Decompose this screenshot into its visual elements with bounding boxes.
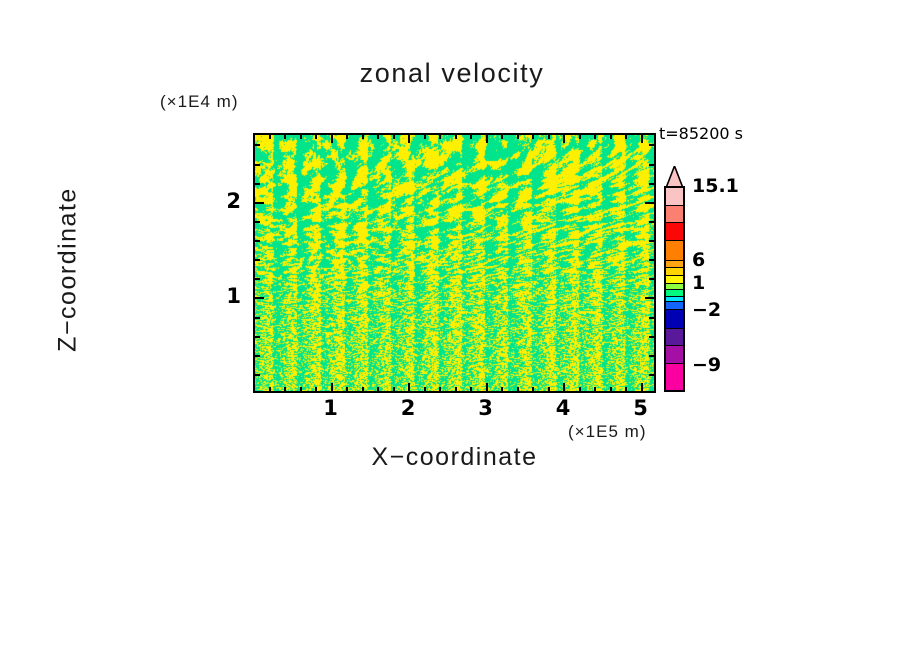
x-tick-label: 5 — [626, 396, 656, 420]
x-minor-tick — [501, 387, 503, 393]
x-major-tick-top — [331, 133, 333, 143]
x-major-tick-top — [563, 133, 565, 143]
x-tick-label: 2 — [393, 396, 423, 420]
y-tick-label: 2 — [215, 189, 241, 213]
y-minor-tick — [253, 374, 260, 376]
x-minor-tick — [269, 387, 271, 393]
colorbar[interactable] — [664, 186, 685, 392]
y-minor-tick — [253, 259, 260, 261]
colorbar-tick-label: 15.1 — [692, 175, 739, 197]
x-major-tick — [641, 383, 643, 393]
colorbar-tick-label: −9 — [692, 354, 721, 376]
x-minor-tick — [346, 387, 348, 393]
y-minor-tick — [253, 336, 260, 338]
colorbar-band — [666, 268, 683, 276]
y-tick-label: 1 — [215, 284, 241, 308]
y-minor-tick-right — [649, 144, 656, 146]
y-minor-tick-right — [649, 221, 656, 223]
x-minor-tick-top — [470, 133, 472, 139]
colorbar-band — [666, 223, 683, 241]
x-major-tick-top — [408, 133, 410, 143]
x-minor-tick-top — [548, 133, 550, 139]
x-minor-tick — [455, 387, 457, 393]
x-tick-label: 1 — [316, 396, 346, 420]
y-minor-tick-right — [649, 183, 656, 185]
x-minor-tick-top — [439, 133, 441, 139]
x-minor-tick — [517, 387, 519, 393]
x-minor-tick-top — [517, 133, 519, 139]
x-minor-tick-top — [393, 133, 395, 139]
x-minor-tick-top — [424, 133, 426, 139]
velocity-field-heatmap — [255, 135, 654, 391]
page-title: zonal velocity — [0, 58, 904, 89]
x-minor-tick-top — [315, 133, 317, 139]
y-axis-unit-label: (×1E4 m) — [160, 92, 239, 112]
colorbar-band — [666, 329, 683, 346]
colorbar-arrow-tip — [664, 166, 685, 188]
x-tick-label: 4 — [548, 396, 578, 420]
x-minor-tick — [362, 387, 364, 393]
x-major-tick — [486, 383, 488, 393]
colorbar-band — [666, 364, 683, 390]
x-minor-tick-top — [610, 133, 612, 139]
x-minor-tick-top — [377, 133, 379, 139]
x-minor-tick-top — [269, 133, 271, 139]
colorbar-tick-label: 6 — [692, 249, 705, 271]
x-minor-tick-top — [579, 133, 581, 139]
x-minor-tick — [424, 387, 426, 393]
x-tick-label: 3 — [471, 396, 501, 420]
colorbar-band — [666, 310, 683, 330]
y-minor-tick — [253, 183, 260, 185]
x-minor-tick-top — [455, 133, 457, 139]
x-minor-tick-top — [346, 133, 348, 139]
x-minor-tick-top — [532, 133, 534, 139]
y-minor-tick-right — [649, 374, 656, 376]
x-minor-tick — [393, 387, 395, 393]
colorbar-tick-label: 1 — [692, 272, 705, 294]
y-major-tick — [253, 297, 264, 299]
x-axis-unit-label: (×1E5 m) — [568, 422, 647, 442]
y-minor-tick — [253, 278, 260, 280]
y-minor-tick — [253, 221, 260, 223]
x-minor-tick — [284, 387, 286, 393]
x-major-tick-top — [641, 133, 643, 143]
x-major-tick — [408, 383, 410, 393]
x-minor-tick — [532, 387, 534, 393]
colorbar-band — [666, 276, 683, 284]
y-minor-tick — [253, 144, 260, 146]
x-minor-tick — [439, 387, 441, 393]
x-minor-tick-top — [300, 133, 302, 139]
colorbar-band — [666, 261, 683, 269]
x-minor-tick — [300, 387, 302, 393]
x-axis-title: X−coordinate — [253, 443, 656, 472]
x-major-tick — [563, 383, 565, 393]
y-minor-tick-right — [649, 336, 656, 338]
colorbar-band — [666, 241, 683, 261]
y-minor-tick — [253, 355, 260, 357]
y-minor-tick-right — [649, 317, 656, 319]
x-minor-tick — [625, 387, 627, 393]
y-major-tick-right — [645, 202, 656, 204]
colorbar-band — [666, 188, 683, 206]
x-minor-tick — [470, 387, 472, 393]
x-minor-tick — [594, 387, 596, 393]
y-minor-tick-right — [649, 164, 656, 166]
plot-area — [253, 133, 656, 393]
x-minor-tick — [315, 387, 317, 393]
y-minor-tick — [253, 317, 260, 319]
colorbar-tick-label: −2 — [692, 299, 721, 321]
y-major-tick — [253, 202, 264, 204]
x-minor-tick — [579, 387, 581, 393]
x-minor-tick — [548, 387, 550, 393]
y-minor-tick-right — [649, 240, 656, 242]
colorbar-band — [666, 206, 683, 222]
y-minor-tick — [253, 164, 260, 166]
y-major-tick-right — [645, 297, 656, 299]
x-minor-tick-top — [594, 133, 596, 139]
x-major-tick — [331, 383, 333, 393]
colorbar-band — [666, 346, 683, 363]
y-minor-tick-right — [649, 259, 656, 261]
x-major-tick-top — [486, 133, 488, 143]
y-minor-tick — [253, 240, 260, 242]
colorbar-band — [666, 302, 683, 310]
y-minor-tick-right — [649, 355, 656, 357]
time-annotation: t=85200 s — [659, 124, 743, 143]
x-minor-tick — [610, 387, 612, 393]
x-minor-tick-top — [284, 133, 286, 139]
x-minor-tick — [377, 387, 379, 393]
y-minor-tick-right — [649, 278, 656, 280]
x-minor-tick-top — [625, 133, 627, 139]
x-minor-tick-top — [362, 133, 364, 139]
y-axis-title: Z−coordinate — [54, 140, 83, 400]
x-minor-tick-top — [501, 133, 503, 139]
